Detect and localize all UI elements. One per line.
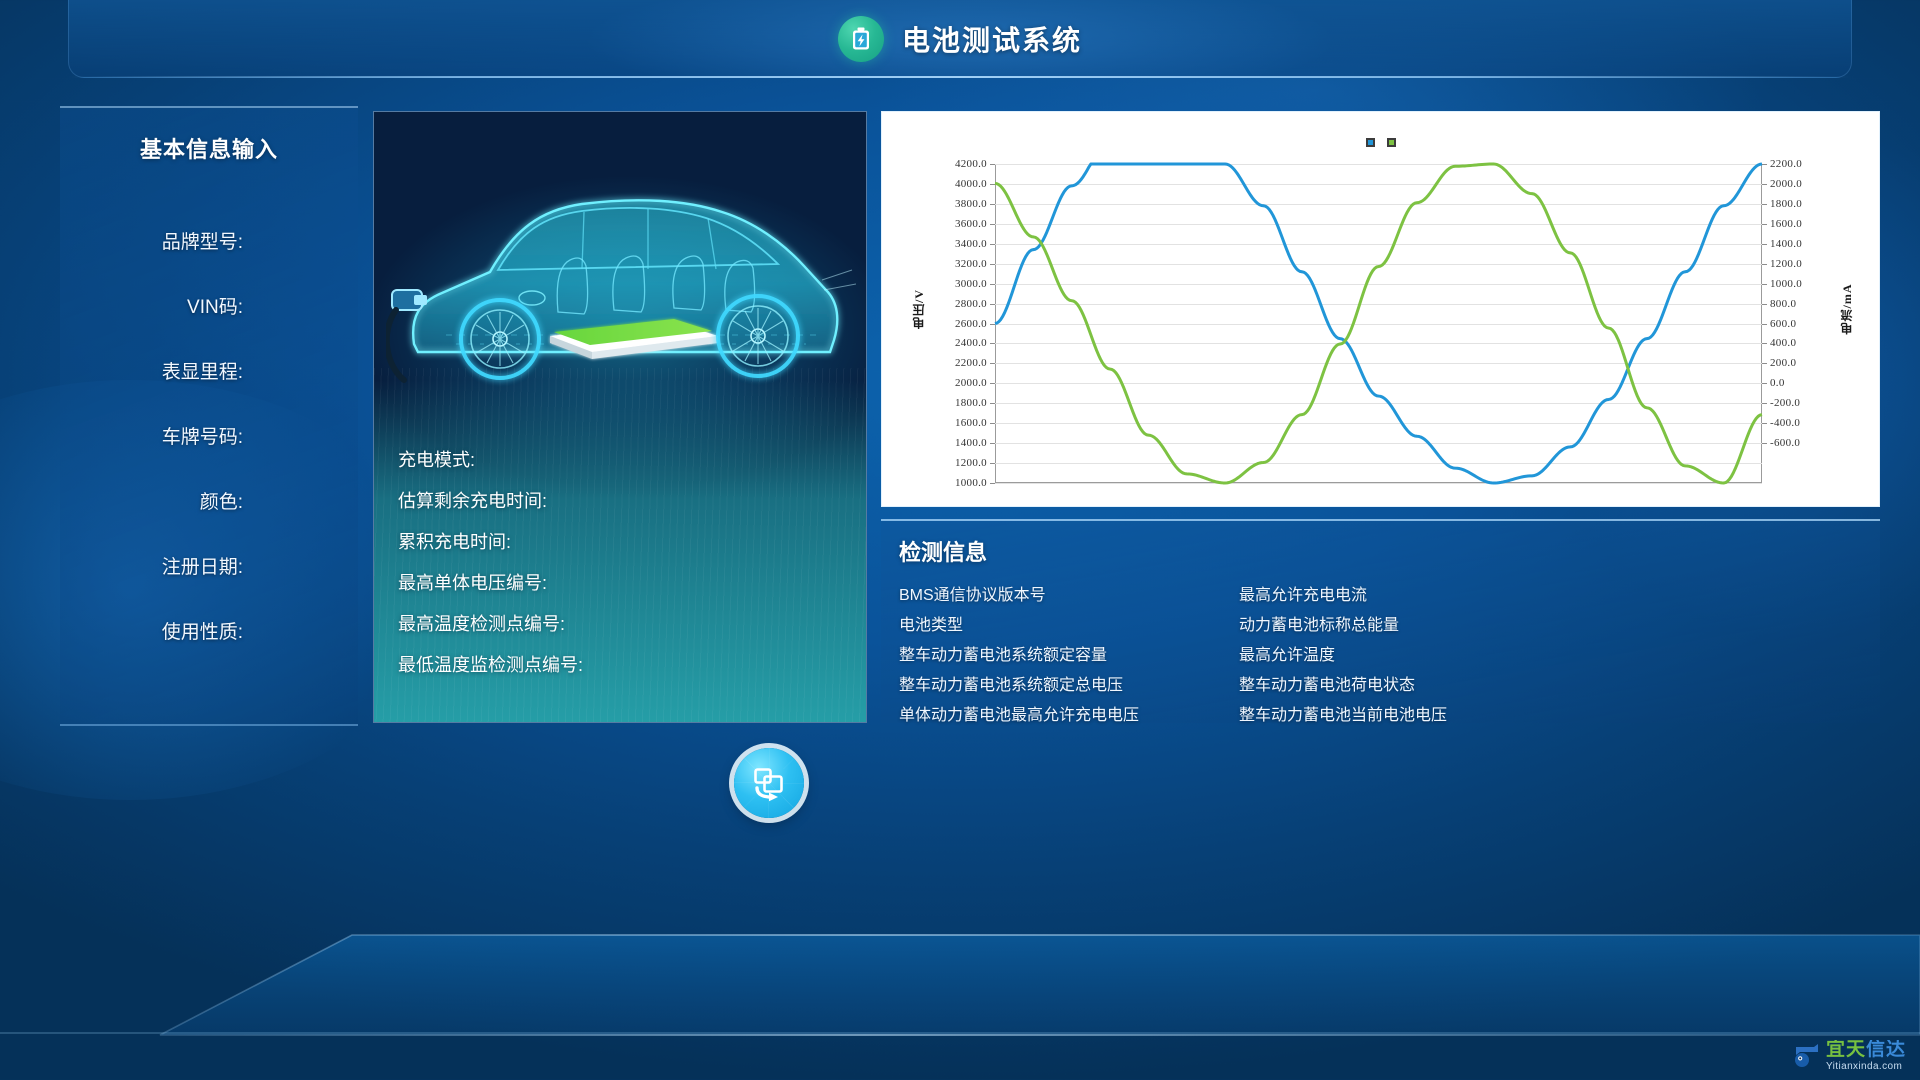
chart-y-axis-right-label: 电流/mA	[1838, 284, 1855, 335]
chart-y-tick-left: 1800.0	[955, 397, 987, 409]
watermark-logo-icon	[1794, 1043, 1820, 1069]
chart-y-tick-left: 3000.0	[955, 278, 987, 290]
chart-y-tick-left: 3200.0	[955, 258, 987, 270]
field-label-accumulated-charge-time: 累积充电时间:	[398, 528, 511, 554]
field-label-brand-model: 品牌型号:	[162, 227, 243, 254]
info-item-battery-type[interactable]: 电池类型	[899, 611, 1239, 641]
chart-tick-mark-right	[1762, 304, 1767, 305]
field-row-max-temp-point-id[interactable]: 最高温度检测点编号:	[398, 602, 838, 643]
refresh-windows-icon	[749, 763, 789, 803]
info-item-nominal-total-energy[interactable]: 动力蓄电池标称总能量	[1239, 611, 1579, 641]
chart-y-axis-left-label: 电压/V	[910, 289, 927, 329]
detection-info-title: 检测信息	[899, 535, 1880, 567]
refresh-button[interactable]	[734, 748, 804, 818]
info-item-rated-total-voltage[interactable]: 整车动力蓄电池系统额定总电压	[899, 671, 1239, 701]
field-label-plate-number: 车牌号码:	[162, 422, 243, 449]
field-row-accumulated-charge-time[interactable]: 累积充电时间:	[398, 520, 838, 561]
chart-y-tick-right: 600.0	[1770, 318, 1796, 330]
bottom-platform-decoration	[0, 905, 1920, 1080]
detection-info-panel: 检测信息 BMS通信协议版本号 电池类型 整车动力蓄电池系统额定容量 整车动力蓄…	[881, 519, 1880, 723]
chart-tick-mark-right	[1762, 284, 1767, 285]
chart-gridline	[995, 483, 1762, 484]
info-item-max-allowed-temperature[interactable]: 最高允许温度	[1239, 641, 1579, 671]
chart-y-tick-left: 2600.0	[955, 318, 987, 330]
chart-tick-mark-right	[1762, 343, 1767, 344]
field-row-charge-mode[interactable]: 充电模式:	[398, 438, 838, 479]
chart-y-tick-right: 2200.0	[1770, 158, 1802, 170]
voltage-current-chart: 电压/V 电流/mA 4200.04000.03800.03600.03400.…	[881, 111, 1880, 507]
chart-y-tick-left: 2000.0	[955, 377, 987, 389]
chart-tick-mark-right	[1762, 224, 1767, 225]
chart-tick-mark-right	[1762, 423, 1767, 424]
field-label-charge-mode: 充电模式:	[398, 446, 475, 472]
charging-field-list: 充电模式: 估算剩余充电时间: 累积充电时间: 最高单体电压编号: 最高温度检测…	[398, 438, 838, 684]
field-row-vin[interactable]: VIN码:	[60, 273, 358, 338]
basic-info-title: 基本信息输入	[60, 132, 358, 164]
field-label-color: 颜色:	[200, 487, 243, 514]
field-label-register-date: 注册日期:	[162, 552, 243, 579]
chart-y-tick-left: 1200.0	[955, 457, 987, 469]
chart-legend	[882, 138, 1879, 147]
chart-tick-mark-right	[1762, 164, 1767, 165]
charging-status-panel: 充电模式: 估算剩余充电时间: 累积充电时间: 最高单体电压编号: 最高温度检测…	[373, 111, 867, 723]
chart-series-line	[995, 164, 1762, 483]
chart-curves	[995, 164, 1762, 483]
chart-y-tick-left: 4000.0	[955, 178, 987, 190]
ev-car-wireframe-icon	[386, 130, 856, 460]
chart-y-tick-left: 3600.0	[955, 218, 987, 230]
chart-tick-mark-right	[1762, 244, 1767, 245]
page-title: 电池测试系统	[902, 19, 1082, 59]
chart-y-tick-right: 400.0	[1770, 337, 1796, 349]
chart-y-tick-left: 2200.0	[955, 357, 987, 369]
chart-y-tick-right: 0.0	[1770, 377, 1785, 389]
battery-bolt-icon	[838, 16, 884, 62]
field-row-mileage[interactable]: 表显里程:	[60, 338, 358, 403]
field-label-usage-type: 使用性质:	[162, 617, 243, 644]
watermark-cn-text: 宜天信达	[1826, 1040, 1906, 1059]
app-header: 电池测试系统	[68, 0, 1852, 78]
field-row-min-temp-point-id[interactable]: 最低温度监检测点编号:	[398, 643, 838, 684]
legend-swatch-voltage[interactable]	[1366, 138, 1375, 147]
field-label-max-temp-point-id: 最高温度检测点编号:	[398, 610, 565, 636]
chart-tick-mark-right	[1762, 403, 1767, 404]
info-item-cell-max-charge-voltage[interactable]: 单体动力蓄电池最高允许充电电压	[899, 701, 1239, 731]
chart-y-tick-right: -200.0	[1770, 397, 1800, 409]
chart-tick-mark-right	[1762, 264, 1767, 265]
field-label-max-cell-voltage-id: 最高单体电压编号:	[398, 569, 547, 595]
info-item-max-charge-current[interactable]: 最高允许充电电流	[1239, 581, 1579, 611]
info-item-state-of-charge[interactable]: 整车动力蓄电池荷电状态	[1239, 671, 1579, 701]
field-row-usage-type[interactable]: 使用性质:	[60, 598, 358, 663]
chart-y-tick-left: 3800.0	[955, 198, 987, 210]
chart-y-tick-right: 1400.0	[1770, 238, 1802, 250]
info-item-current-battery-voltage[interactable]: 整车动力蓄电池当前电池电压	[1239, 701, 1579, 731]
chart-tick-mark-right	[1762, 363, 1767, 364]
chart-y-tick-right: 1800.0	[1770, 198, 1802, 210]
chart-plot-area: 4200.04000.03800.03600.03400.03200.03000…	[995, 164, 1762, 483]
chart-tick-mark-right	[1762, 443, 1767, 444]
chart-y-tick-right: -600.0	[1770, 437, 1800, 449]
chart-y-tick-right: 200.0	[1770, 357, 1796, 369]
header-underline	[69, 76, 1851, 78]
chart-y-tick-right: -400.0	[1770, 417, 1800, 429]
info-item-rated-capacity[interactable]: 整车动力蓄电池系统额定容量	[899, 641, 1239, 671]
chart-tick-mark-right	[1762, 184, 1767, 185]
chart-series-line	[995, 164, 1762, 483]
detection-info-column-right: 最高允许充电电流 动力蓄电池标称总能量 最高允许温度 整车动力蓄电池荷电状态 整…	[1239, 581, 1579, 731]
watermark: 宜天信达 Yitianxinda.com	[1794, 1040, 1906, 1072]
chart-y-tick-right: 1600.0	[1770, 218, 1802, 230]
chart-y-tick-right: 1200.0	[1770, 258, 1802, 270]
chart-tick-mark-left	[990, 483, 995, 484]
basic-info-panel: 基本信息输入 品牌型号: VIN码: 表显里程: 车牌号码: 颜色: 注册日期:…	[60, 106, 358, 726]
chart-y-tick-right: 2000.0	[1770, 178, 1802, 190]
field-row-remaining-charge-time[interactable]: 估算剩余充电时间:	[398, 479, 838, 520]
field-row-color[interactable]: 颜色:	[60, 468, 358, 533]
chart-y-tick-right: 1000.0	[1770, 278, 1802, 290]
field-row-plate-number[interactable]: 车牌号码:	[60, 403, 358, 468]
basic-info-field-list: 品牌型号: VIN码: 表显里程: 车牌号码: 颜色: 注册日期: 使用性质:	[60, 208, 358, 663]
chart-y-tick-left: 2400.0	[955, 337, 987, 349]
watermark-en-text: Yitianxinda.com	[1826, 1062, 1906, 1072]
chart-y-tick-left: 1000.0	[955, 477, 987, 489]
chart-tick-mark-right	[1762, 324, 1767, 325]
chart-y-tick-left: 1400.0	[955, 437, 987, 449]
chart-y-tick-left: 1600.0	[955, 417, 987, 429]
field-label-vin: VIN码:	[187, 292, 243, 319]
chart-y-tick-left: 2800.0	[955, 298, 987, 310]
field-label-remaining-charge-time: 估算剩余充电时间:	[398, 487, 547, 513]
detection-info-grid: BMS通信协议版本号 电池类型 整车动力蓄电池系统额定容量 整车动力蓄电池系统额…	[899, 581, 1880, 731]
field-row-max-cell-voltage-id[interactable]: 最高单体电压编号:	[398, 561, 838, 602]
chart-y-tick-right: 800.0	[1770, 298, 1796, 310]
field-label-mileage: 表显里程:	[162, 357, 243, 384]
field-label-min-temp-point-id: 最低温度监检测点编号:	[398, 651, 583, 677]
chart-tick-mark-right	[1762, 204, 1767, 205]
field-row-brand-model[interactable]: 品牌型号:	[60, 208, 358, 273]
chart-tick-mark-right	[1762, 383, 1767, 384]
detection-info-column-left: BMS通信协议版本号 电池类型 整车动力蓄电池系统额定容量 整车动力蓄电池系统额…	[899, 581, 1239, 731]
info-item-bms-protocol-version[interactable]: BMS通信协议版本号	[899, 581, 1239, 611]
legend-swatch-current[interactable]	[1387, 138, 1396, 147]
chart-y-tick-left: 4200.0	[955, 158, 987, 170]
chart-y-tick-left: 3400.0	[955, 238, 987, 250]
field-row-register-date[interactable]: 注册日期:	[60, 533, 358, 598]
